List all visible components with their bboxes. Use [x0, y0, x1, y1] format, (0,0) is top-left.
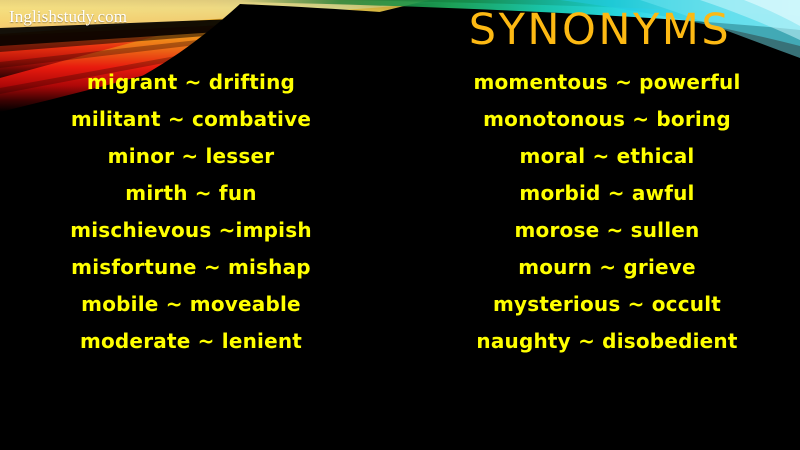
synonym-pair: moderate ~ lenient: [0, 323, 400, 360]
synonym-pair: morose ~ sullen: [400, 212, 800, 249]
synonym-pair: mysterious ~ occult: [400, 286, 800, 323]
synonym-pair: naughty ~ disobedient: [400, 323, 800, 360]
synonym-pair: mobile ~ moveable: [0, 286, 400, 323]
synonyms-slide: Inglishstudy.com SYNONYMS migrant ~ drif…: [0, 0, 800, 450]
synonym-pair: mischievous ~impish: [0, 212, 400, 249]
synonym-column-left: migrant ~ drifting militant ~ combative …: [0, 64, 400, 360]
synonym-pair: mourn ~ grieve: [400, 249, 800, 286]
synonym-pair: moral ~ ethical: [400, 138, 800, 175]
synonym-columns: migrant ~ drifting militant ~ combative …: [0, 64, 800, 360]
synonym-pair: misfortune ~ mishap: [0, 249, 400, 286]
synonym-pair: minor ~ lesser: [0, 138, 400, 175]
synonym-pair: migrant ~ drifting: [0, 64, 400, 101]
synonym-column-right: momentous ~ powerful monotonous ~ boring…: [400, 64, 800, 360]
synonym-pair: monotonous ~ boring: [400, 101, 800, 138]
synonym-pair: morbid ~ awful: [400, 175, 800, 212]
synonym-pair: momentous ~ powerful: [400, 64, 800, 101]
page-title: SYNONYMS: [420, 8, 780, 53]
synonym-pair: mirth ~ fun: [0, 175, 400, 212]
watermark-text: Inglishstudy.com: [9, 7, 127, 27]
synonym-pair: militant ~ combative: [0, 101, 400, 138]
